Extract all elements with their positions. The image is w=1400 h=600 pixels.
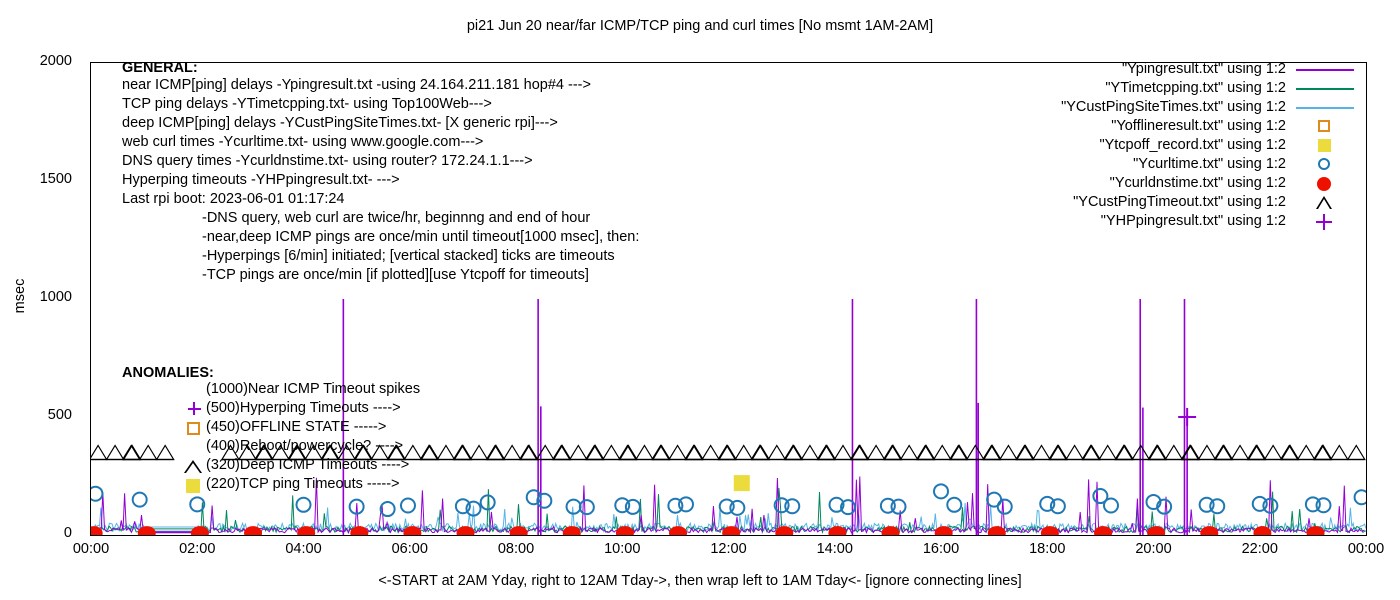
- triangle-marker-icon-inner: [186, 463, 200, 473]
- legend-label: "YHPpingresult.txt" using 1:2: [1101, 212, 1286, 231]
- general-lines: near ICMP[ping] delays -Ypingresult.txt …: [122, 76, 639, 209]
- deep-icmp-timeout-triangle: [504, 445, 521, 459]
- anomaly-label: (450)OFFLINE STATE ----->: [206, 419, 386, 435]
- curl-time-circle: [892, 500, 906, 514]
- anomaly-row: (220)TCP ping Timeouts ----->: [122, 476, 214, 495]
- legend-label: "YCustPingTimeout.txt" using 1:2: [1073, 193, 1286, 212]
- curl-time-circle: [91, 487, 102, 501]
- deep-icmp-timeout-triangle: [1348, 445, 1365, 459]
- deep-icmp-timeout-triangle: [1000, 445, 1017, 459]
- dns-query-dot: [775, 526, 793, 535]
- y-tick-label: 1000: [8, 289, 72, 305]
- general-indented-line: -near,deep ICMP pings are once/min until…: [122, 228, 639, 247]
- offline-box-icon: [187, 422, 200, 435]
- curl-time-circle: [626, 500, 640, 514]
- curl-time-circle: [1210, 499, 1224, 513]
- x-tick-label: 04:00: [269, 541, 339, 557]
- curl-time-circle: [580, 500, 594, 514]
- curl-time-circle: [934, 484, 948, 498]
- general-indented-lines: -DNS query, web curl are twice/hr, begin…: [122, 209, 639, 285]
- curl-time-circle: [730, 501, 744, 515]
- legend-key-plus: [1294, 212, 1356, 231]
- legend-label: "Ypingresult.txt" using 1:2: [1122, 60, 1286, 79]
- dns-query-dot: [988, 526, 1006, 535]
- line-swatch-icon: [1296, 88, 1354, 90]
- legend-row: "YCustPingSiteTimes.txt" using 1:2: [900, 98, 1370, 117]
- x-tick-label: 20:00: [1119, 541, 1189, 557]
- deep-icmp-timeout-triangle: [437, 445, 454, 459]
- deep-icmp-timeout-triangle: [801, 445, 818, 459]
- legend-row: "Ytcpoff_record.txt" using 1:2: [900, 136, 1370, 155]
- deep-icmp-timeout-triangle: [735, 445, 752, 459]
- curl-time-circle: [1317, 498, 1331, 512]
- legend-key-line: [1294, 79, 1356, 98]
- x-axis-caption: <-START at 2AM Yday, right to 12AM Tday-…: [0, 573, 1400, 589]
- deep-icmp-timeout-triangle: [967, 445, 984, 459]
- curl-time-circle: [297, 498, 311, 512]
- anomaly-row: (320)Deep ICMP Timeouts ---->: [122, 457, 214, 476]
- deep-icmp-timeout-triangle: [91, 445, 107, 459]
- general-indented-line: -DNS query, web curl are twice/hr, begin…: [122, 209, 639, 228]
- legend-row: "Ypingresult.txt" using 1:2: [900, 60, 1370, 79]
- general-line: Last rpi boot: 2023-06-01 01:17:24: [122, 190, 639, 209]
- anomaly-row: (1000)Near ICMP Timeout spikes: [122, 381, 214, 400]
- curl-time-circle: [679, 497, 693, 511]
- x-tick-label: 06:00: [375, 541, 445, 557]
- triangle-icon-inner: [1318, 199, 1330, 209]
- y-tick-label: 2000: [8, 53, 72, 69]
- general-indented-line: -Hyperpings [6/min] initiated; [vertical…: [122, 247, 639, 266]
- x-tick-label: 12:00: [694, 541, 764, 557]
- line-swatch-icon: [1296, 107, 1354, 109]
- legend-key-line: [1294, 98, 1356, 117]
- deep-icmp-timeout-triangle: [1331, 445, 1348, 459]
- plus-icon-v: [1323, 214, 1325, 230]
- legend-row: "Ycurltime.txt" using 1:2: [900, 155, 1370, 174]
- filled-circle-icon: [1317, 177, 1331, 191]
- series-line-YTimetcpping: [91, 488, 1366, 532]
- legend-label: "Ycurldnstime.txt" using 1:2: [1110, 174, 1286, 193]
- plus-marker-icon: [193, 402, 195, 415]
- legend-key-dot: [1294, 174, 1356, 193]
- general-line: deep ICMP[ping] delays -YCustPingSiteTim…: [122, 114, 639, 133]
- general-line: near ICMP[ping] delays -Ypingresult.txt …: [122, 76, 639, 95]
- deep-icmp-timeout-triangle: [471, 445, 488, 459]
- legend-row: "Yofflineresult.txt" using 1:2: [900, 117, 1370, 136]
- legend-row: "Ycurldnstime.txt" using 1:2: [900, 174, 1370, 193]
- y-tick-label: 0: [8, 525, 72, 541]
- anomaly-label: (1000)Near ICMP Timeout spikes: [206, 381, 420, 397]
- dns-query-dot: [669, 526, 687, 535]
- chart-title: pi21 Jun 20 near/far ICMP/TCP ping and c…: [0, 18, 1400, 34]
- line-swatch-icon: [1296, 69, 1354, 71]
- legend-row: "YCustPingTimeout.txt" using 1:2: [900, 193, 1370, 212]
- general-line: web curl times -Ycurltime.txt- using www…: [122, 133, 639, 152]
- legend-row: "YTimetcpping.txt" using 1:2: [900, 79, 1370, 98]
- deep-icmp-timeout-triangle: [1232, 445, 1249, 459]
- curl-time-circle: [1355, 490, 1366, 504]
- dns-query-dot: [244, 526, 262, 535]
- legend-label: "YTimetcpping.txt" using 1:2: [1105, 79, 1286, 98]
- x-tick-label: 02:00: [162, 541, 232, 557]
- filled-box-icon: [1318, 139, 1331, 152]
- deep-icmp-timeout-triangle: [702, 445, 719, 459]
- anomalies-rows: (1000)Near ICMP Timeout spikes(500)Hyper…: [122, 381, 214, 495]
- deep-icmp-timeout-triangle: [1165, 445, 1182, 459]
- curl-time-circle: [1104, 499, 1118, 513]
- x-tick-label: 08:00: [481, 541, 551, 557]
- legend-label: "Ycurltime.txt" using 1:2: [1133, 155, 1286, 174]
- legend-key-line: [1294, 60, 1356, 79]
- legend-row: "YHPpingresult.txt" using 1:2: [900, 212, 1370, 231]
- general-line: TCP ping delays -YTimetcpping.txt- using…: [122, 95, 639, 114]
- legend-label: "Yofflineresult.txt" using 1:2: [1111, 117, 1286, 136]
- y-tick-label: 1500: [8, 171, 72, 187]
- general-indented-line: -TCP pings are once/min [if plotted][use…: [122, 266, 639, 285]
- general-line: Hyperping timeouts -YHPpingresult.txt- -…: [122, 171, 639, 190]
- legend-key-openbox: [1294, 117, 1356, 136]
- anomaly-label: (320)Deep ICMP Timeouts ---->: [206, 457, 409, 473]
- deep-icmp-timeout-triangle: [1198, 445, 1215, 459]
- deep-icmp-timeout-triangle: [570, 445, 587, 459]
- deep-icmp-timeout-triangle: [901, 445, 918, 459]
- curl-time-circle: [785, 499, 799, 513]
- deep-icmp-timeout-triangle: [1066, 445, 1083, 459]
- y-tick-label: 500: [8, 407, 72, 423]
- open-circle-icon: [1318, 158, 1330, 170]
- deep-icmp-timeout-triangle: [1265, 445, 1282, 459]
- deep-icmp-timeout-triangle: [768, 445, 785, 459]
- anomalies-heading: ANOMALIES:: [122, 365, 214, 381]
- legend-key-triangle: [1294, 193, 1356, 212]
- x-tick-label: 00:00: [56, 541, 126, 557]
- deep-icmp-timeout-triangle: [934, 445, 951, 459]
- legend-key-fillbox: [1294, 136, 1356, 155]
- deep-icmp-timeout-triangle: [537, 445, 554, 459]
- tcp-ping-timeout-box: [734, 475, 750, 491]
- x-tick-label: 22:00: [1225, 541, 1295, 557]
- anomalies-annotation-block: ANOMALIES: (1000)Near ICMP Timeout spike…: [122, 365, 214, 495]
- curl-time-circle: [947, 498, 961, 512]
- anomaly-label: (400)Reboot/powercycle? ---->: [206, 438, 403, 454]
- x-tick-label: 14:00: [800, 541, 870, 557]
- anomaly-label: (220)TCP ping Timeouts ----->: [206, 476, 400, 492]
- deep-icmp-timeout-triangle: [1099, 445, 1116, 459]
- x-tick-label: 00:00: [1331, 541, 1400, 557]
- tcp-timeout-box-icon: [186, 479, 200, 493]
- legend-label: "Ytcpoff_record.txt" using 1:2: [1099, 136, 1286, 155]
- x-tick-label: 16:00: [906, 541, 976, 557]
- legend-label: "YCustPingSiteTimes.txt" using 1:2: [1061, 98, 1286, 117]
- open-box-icon: [1318, 120, 1330, 132]
- legend-key-circle: [1294, 155, 1356, 174]
- anomaly-label: (500)Hyperping Timeouts ---->: [206, 400, 401, 416]
- deep-icmp-timeout-triangle: [636, 445, 653, 459]
- chart-root: pi21 Jun 20 near/far ICMP/TCP ping and c…: [0, 0, 1400, 600]
- general-annotation-block: GENERAL: near ICMP[ping] delays -Ypingre…: [122, 60, 639, 285]
- deep-icmp-timeout-triangle: [669, 445, 686, 459]
- curl-time-circle: [401, 499, 415, 513]
- deep-icmp-timeout-triangle: [868, 445, 885, 459]
- deep-icmp-timeout-triangle: [834, 445, 851, 459]
- x-tick-label: 18:00: [1012, 541, 1082, 557]
- anomaly-row: (500)Hyperping Timeouts ---->: [122, 400, 214, 419]
- general-heading: GENERAL:: [122, 60, 639, 76]
- deep-icmp-timeout-triangle: [1033, 445, 1050, 459]
- deep-icmp-timeout-triangle: [1298, 445, 1315, 459]
- deep-icmp-timeout-triangle: [603, 445, 620, 459]
- x-tick-label: 10:00: [587, 541, 657, 557]
- curl-time-circle: [998, 500, 1012, 514]
- anomaly-row: (400)Reboot/powercycle? ---->: [122, 438, 214, 457]
- general-line: DNS query times -Ycurldnstime.txt- using…: [122, 152, 639, 171]
- anomaly-row: (450)OFFLINE STATE ----->: [122, 419, 214, 438]
- legend: "Ypingresult.txt" using 1:2"YTimetcpping…: [900, 60, 1370, 235]
